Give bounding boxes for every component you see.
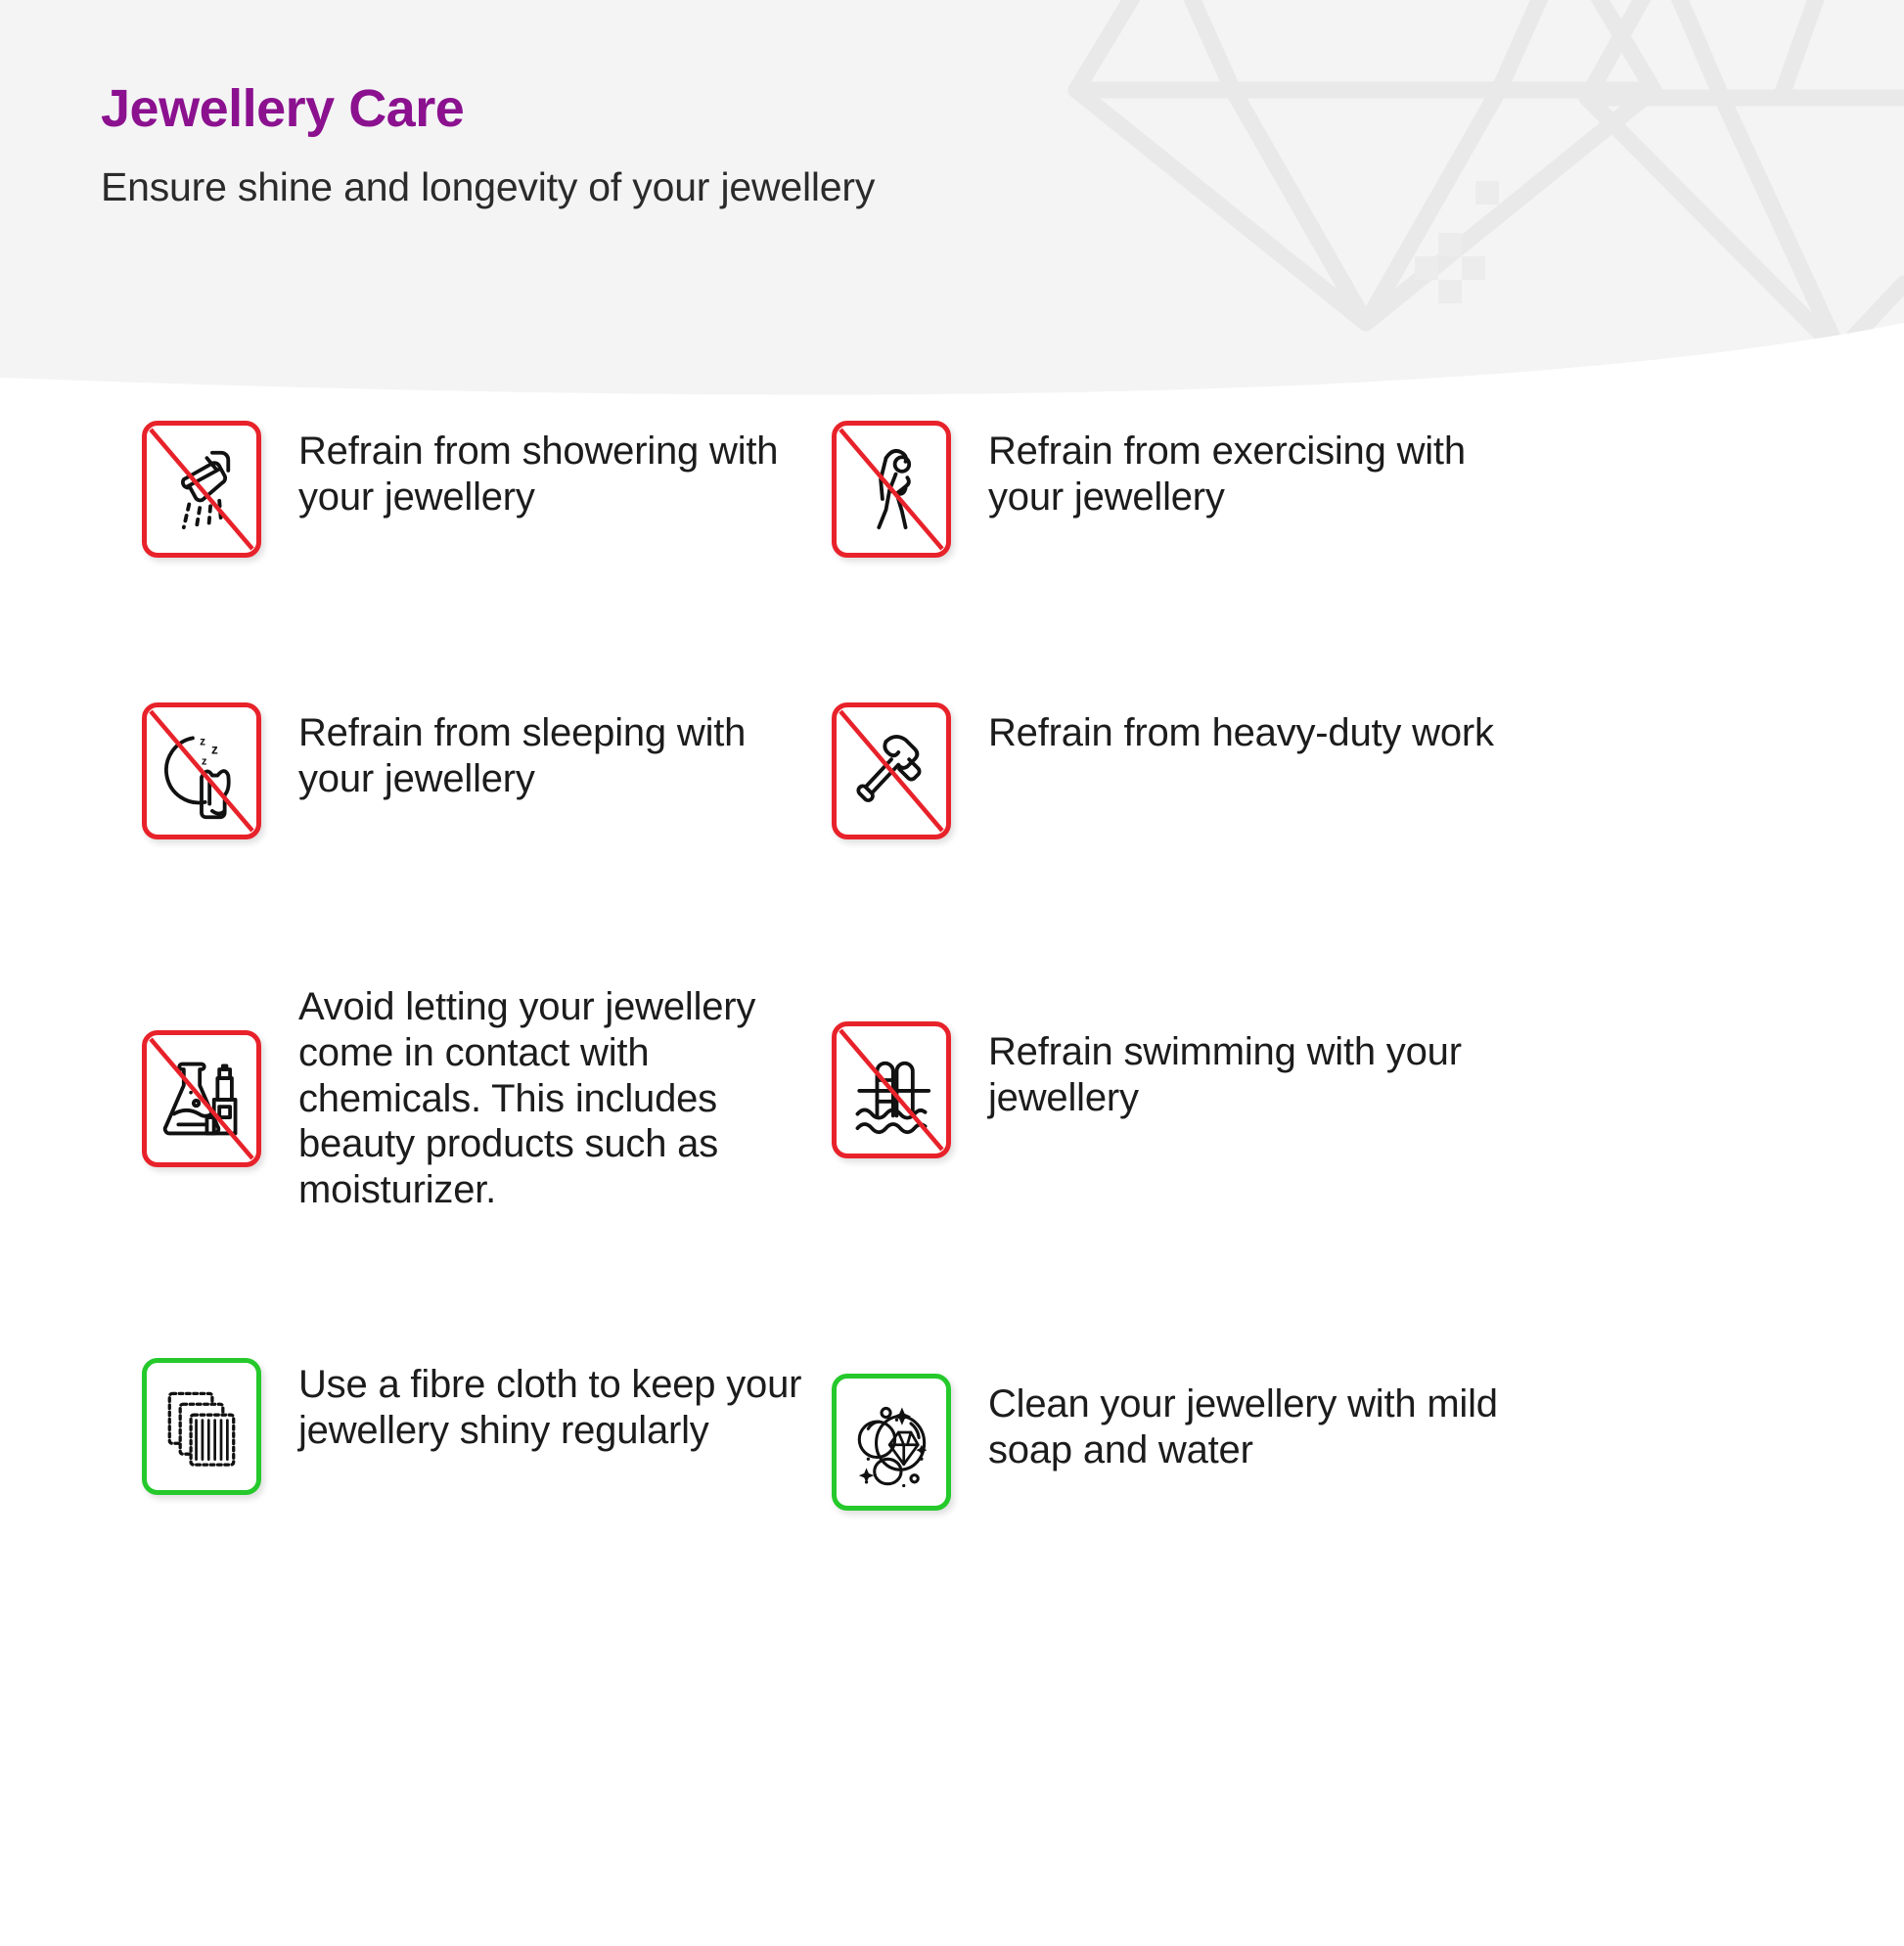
tip-icon-tile: [832, 1021, 951, 1158]
svg-text:z: z: [200, 735, 205, 748]
tip-icon-tile: z z z: [142, 702, 261, 839]
header-band: Jewellery Care Ensure shine and longevit…: [0, 0, 1904, 411]
shower-icon: [157, 440, 247, 538]
tip-label: Avoid letting your jewellery come in con…: [298, 984, 832, 1213]
tip-icon-tile: [832, 1374, 951, 1511]
diamond-soap-bubbles-icon: [846, 1393, 936, 1491]
tip-icon-tile: [142, 421, 261, 558]
tip-icon-tile: [832, 421, 951, 558]
tip-item: Refrain from exercising with your jewell…: [832, 421, 1663, 558]
tip-item: Use a fibre cloth to keep your jewellery…: [0, 1358, 832, 1511]
tip-label: Refrain from heavy-duty work: [988, 702, 1494, 756]
page-title: Jewellery Care: [101, 80, 875, 138]
tips-row: Avoid letting your jewellery come in con…: [0, 984, 1904, 1213]
swimming-pool-icon: [846, 1041, 936, 1139]
tip-item: z z z Refrain from sleeping with your je…: [0, 702, 832, 839]
tip-label: Clean your jewellery with mild soap and …: [988, 1374, 1536, 1473]
tip-label: Refrain swimming with your jewellery: [988, 1021, 1536, 1121]
svg-text:z: z: [211, 743, 218, 757]
tip-icon-tile: [142, 1030, 261, 1167]
tip-label: Refrain from showering with your jewelle…: [298, 421, 832, 520]
tip-item: Avoid letting your jewellery come in con…: [0, 984, 832, 1213]
tip-item: Refrain from heavy-duty work: [832, 702, 1663, 839]
tip-icon-tile: [832, 702, 951, 839]
tip-label: Use a fibre cloth to keep your jewellery…: [298, 1358, 832, 1454]
tip-item: Refrain from showering with your jewelle…: [0, 421, 832, 558]
tips-row: Refrain from showering with your jewelle…: [0, 421, 1904, 558]
tips-row: Use a fibre cloth to keep your jewellery…: [0, 1358, 1904, 1511]
header-text-block: Jewellery Care Ensure shine and longevit…: [101, 80, 875, 212]
tip-icon-tile: [142, 1358, 261, 1495]
jewellery-care-infographic: Jewellery Care Ensure shine and longevit…: [0, 0, 1904, 1946]
tip-item: Clean your jewellery with mild soap and …: [832, 1374, 1663, 1511]
tip-label: Refrain from sleeping with your jeweller…: [298, 702, 832, 802]
page-subtitle: Ensure shine and longevity of your jewel…: [101, 163, 875, 211]
tip-item: Refrain swimming with your jewellery: [832, 1021, 1663, 1213]
tip-label: Refrain from exercising with your jewell…: [988, 421, 1536, 520]
tips-grid: Refrain from showering with your jewelle…: [0, 421, 1904, 1511]
hammer-icon: [846, 722, 936, 820]
chemicals-flask-icon: [157, 1050, 247, 1148]
fibre-cloth-icon: [157, 1378, 247, 1475]
tips-row: z z z Refrain from sleeping with your je…: [0, 702, 1904, 839]
sleeping-moon-cat-icon: z z z: [157, 722, 247, 820]
svg-text:z: z: [202, 756, 207, 768]
exercising-person-icon: [846, 440, 936, 538]
